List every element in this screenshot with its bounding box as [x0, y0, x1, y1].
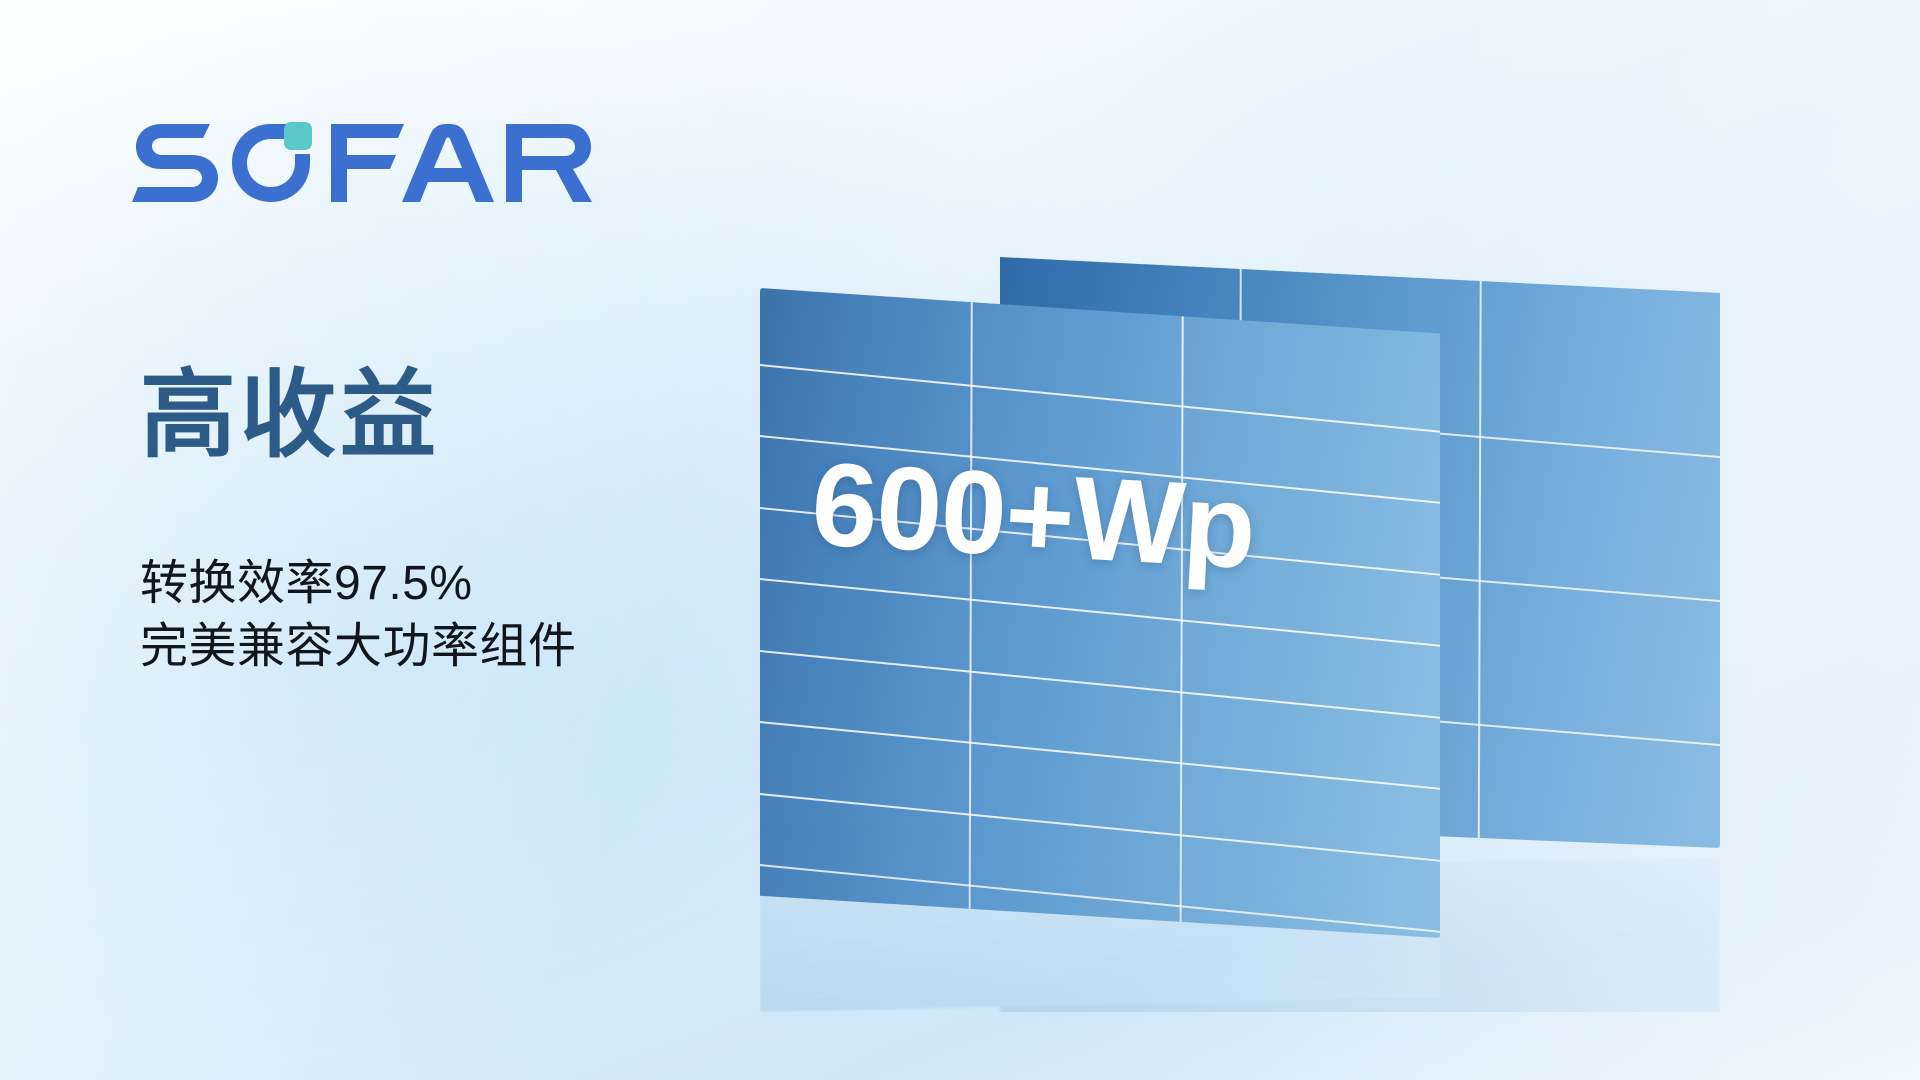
panel-power-label: 600+Wp [808, 436, 1258, 596]
page-title: 高收益 [140, 368, 440, 464]
subtitle-line-1: 转换效率97.5% [140, 552, 577, 615]
grid-line-h [760, 860, 1440, 936]
grid-line-v [1179, 288, 1184, 938]
subtitle-block: 转换效率97.5% 完美兼容大功率组件 [140, 552, 577, 679]
grid-line-h [760, 789, 1440, 865]
solar-panel-group: 600+Wp [760, 200, 1720, 1020]
logo-accent-square [284, 122, 312, 150]
grid-line-h [760, 646, 1440, 722]
marketing-banner: 高收益 转换效率97.5% 完美兼容大功率组件 [0, 0, 1920, 1080]
grid-line-h [760, 717, 1440, 793]
solar-panel-front [760, 288, 1440, 938]
panel-front-grid [760, 288, 1440, 938]
subtitle-line-2: 完美兼容大功率组件 [140, 615, 577, 678]
grid-line-v [968, 288, 973, 938]
grid-line-h [760, 360, 1440, 436]
grid-line-v [1477, 248, 1481, 848]
sofar-logo[interactable] [132, 118, 592, 204]
